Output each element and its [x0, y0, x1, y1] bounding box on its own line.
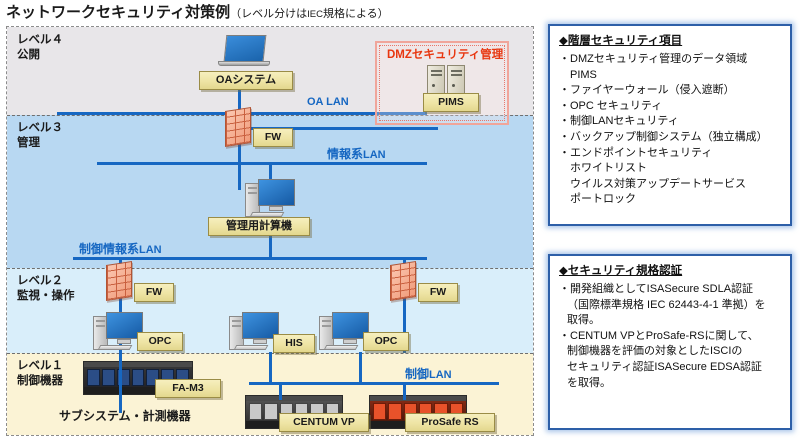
- oa-lan-label: OA LAN: [307, 96, 349, 108]
- level-2-name: レベル２: [17, 275, 63, 287]
- panel-1-line-1: ・DMZセキュリティ管理のデータ領域: [559, 52, 781, 68]
- level-1-desc: 制御機器: [17, 375, 63, 387]
- pc-monitor: [258, 179, 295, 206]
- laptop-base: [218, 61, 270, 66]
- laptop-screen: [224, 35, 267, 61]
- panel-1-line-9: ウイルス対策アップデートサービス: [559, 177, 781, 193]
- level-3-desc: 管理: [17, 137, 40, 149]
- johokei-lan-label: 情報系LAN: [327, 145, 386, 162]
- his-downlink-line: [269, 352, 272, 384]
- node-fw-left[interactable]: FW: [134, 283, 174, 302]
- node-fw-right[interactable]: FW: [418, 283, 458, 302]
- panel-1-line-4: ・OPC セキュリティ: [559, 99, 781, 115]
- panel-1-line-2: PIMS: [559, 68, 781, 84]
- rack-top: [370, 396, 466, 401]
- level-label-3: レベル３ 管理: [17, 121, 63, 150]
- johokei-lan-line: [97, 162, 427, 165]
- seigyo-lan-label-suffix: LAN: [429, 369, 452, 381]
- seigyo-joho-lan-label-suffix: LAN: [139, 244, 162, 256]
- panel-1-line-8: ホワイトリスト: [559, 161, 781, 177]
- panel-2-line-5: 制御機器を評価の対象としたISCIの: [559, 344, 781, 360]
- level-label-1: レベル１ 制御機器: [17, 359, 63, 388]
- level-1-name: レベル１: [17, 360, 63, 372]
- level-label-4: レベル４ 公開: [17, 33, 63, 62]
- node-fw-top[interactable]: FW: [253, 128, 293, 147]
- page-title: ネットワークセキュリティ対策例（レベル分けはIEC規格による）: [6, 1, 546, 23]
- node-pims[interactable]: PIMS: [423, 93, 479, 112]
- panel-1-heading: ◆階層セキュリティ項目: [559, 34, 781, 49]
- panel-hierarchical-security-items: ◆階層セキュリティ項目 ・DMZセキュリティ管理のデータ領域 PIMS ・ファイ…: [548, 24, 792, 226]
- rack-top: [246, 396, 342, 401]
- panel-2-line-7: を取得。: [559, 376, 781, 392]
- panel-1-line-10: ポートロック: [559, 192, 781, 208]
- node-centum-vp[interactable]: CENTUM VP: [279, 413, 369, 432]
- panel-1-line-6: ・バックアップ制御システム（独立構成）: [559, 130, 781, 146]
- page-title-sub: （レベル分けはIEC規格による）: [230, 8, 389, 20]
- seigyo-lan-line: [249, 382, 499, 385]
- panel-1-line-3: ・ファイヤーウォール（侵入遮断）: [559, 83, 781, 99]
- pc-stand: [253, 339, 267, 344]
- pc-keyboard: [98, 345, 133, 350]
- pc-keyboard: [234, 345, 269, 350]
- firewall-right-icon: [390, 261, 416, 301]
- panel-2-line-1: ・開発組織としてISASecure SDLA認証: [559, 282, 781, 298]
- node-opc-right[interactable]: OPC: [363, 332, 409, 351]
- centum-uplink-line: [279, 382, 282, 400]
- seigyo-joho-lan-label: 制御情報系LAN: [79, 240, 162, 257]
- panel-2-heading: ◆セキュリティ規格認証: [559, 264, 781, 279]
- node-prosafe-rs[interactable]: ProSafe RS: [405, 413, 495, 432]
- level-3-name: レベル３: [17, 122, 63, 134]
- seigyo-joho-lan-label-jp: 制御情報系: [79, 242, 139, 256]
- admin-pc-downlink-line: [269, 234, 272, 258]
- seigyo-joho-lan-line: [73, 257, 427, 260]
- node-fa-m3[interactable]: FA-M3: [155, 379, 221, 398]
- page-title-sub-iec: IEC: [307, 9, 323, 20]
- panel-1-line-5: ・制御LANセキュリティ: [559, 114, 781, 130]
- firewall-left-icon: [106, 261, 132, 301]
- rack-top: [84, 362, 192, 367]
- seigyo-lan-label: 制御LAN: [405, 365, 452, 382]
- page-title-sub-open: （レベル分けは: [230, 8, 307, 20]
- panel-2-line-3: 取得。: [559, 313, 781, 329]
- panel-2-line-6: セキュリティ認証ISASecure EDSA認証: [559, 360, 781, 376]
- opc-right-downlink-line: [359, 352, 362, 384]
- laptop-icon: [225, 35, 270, 66]
- prosafe-uplink-line: [403, 382, 406, 400]
- pc-stand: [343, 339, 357, 344]
- firewall-top-icon: [225, 107, 251, 147]
- panel-2-line-2: （国際標準規格 IEC 62443-4-1 準拠）を: [559, 298, 781, 314]
- panel-2-line-4: ・CENTUM VPとProSafe-RSに関して、: [559, 329, 781, 345]
- network-diagram: レベル４ 公開 レベル３ 管理 レベル２ 監視・操作 レベル１ 制御機器 DMZ…: [6, 26, 534, 436]
- node-admin-pc[interactable]: 管理用計算機: [208, 217, 310, 236]
- level-4-name: レベル４: [17, 34, 63, 46]
- page-title-sub-close: 規格による）: [323, 8, 389, 20]
- node-oa-system[interactable]: OAシステム: [199, 71, 293, 90]
- node-opc-left[interactable]: OPC: [137, 332, 183, 351]
- dmz-server-2: [447, 65, 465, 95]
- johokei-lan-label-suffix: LAN: [363, 149, 386, 161]
- pc-stand: [269, 206, 283, 211]
- level-label-2: レベル２ 監視・操作: [17, 274, 75, 303]
- admin-pc-icon: [245, 179, 297, 219]
- subsystem-label: サブシステム・計測機器: [59, 407, 191, 424]
- panel-security-standard-certification: ◆セキュリティ規格認証 ・開発組織としてISASecure SDLA認証 （国際…: [548, 254, 792, 430]
- dmz-server-1: [427, 65, 445, 95]
- dmz-title: DMZセキュリティ管理: [387, 46, 503, 62]
- panel-1-line-7: ・エンドポイントセキュリティ: [559, 146, 781, 162]
- seigyo-lan-label-jp: 制御: [405, 367, 429, 381]
- pc-stand: [117, 339, 131, 344]
- level-4-desc: 公開: [17, 49, 40, 61]
- page-title-main: ネットワークセキュリティ対策例: [6, 4, 230, 21]
- johokei-lan-label-jp: 情報系: [327, 147, 363, 161]
- node-his[interactable]: HIS: [273, 334, 315, 353]
- level-2-desc: 監視・操作: [17, 290, 75, 302]
- pc-keyboard: [324, 345, 359, 350]
